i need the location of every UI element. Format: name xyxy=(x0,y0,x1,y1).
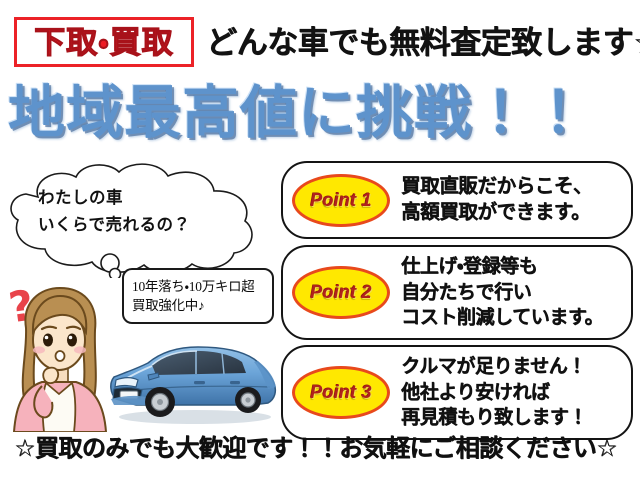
point-2-line-3: コスト削減しています。 xyxy=(401,305,603,331)
footer-message: ☆買取のみでも大歓迎です！！お気軽にご相談ください☆ xyxy=(14,435,628,464)
point-text-3: クルマが足りません！ 他社より安ければ 再見積もり致します！ xyxy=(401,354,587,431)
point-badge-2: Point 2 xyxy=(292,266,390,319)
point-text-2: 仕上げ・登録等も 自分たちで行い コスト削減しています。 xyxy=(401,254,603,331)
trade-in-purchase-badge: 下取・買取 xyxy=(14,17,194,67)
point-3-line-3: 再見積もり致します！ xyxy=(401,405,587,431)
point-box-3: Point 3 クルマが足りません！ 他社より安ければ 再見積もり致します！ xyxy=(281,345,633,440)
main-headline: 地域最高値に挑戦！！ xyxy=(8,84,632,146)
point-1-line-1: 買取直販だからこそ、 xyxy=(401,174,592,200)
thought-bubble-text: わたしの車 いくらで売れるの？ xyxy=(38,185,268,238)
point-badge-3: Point 3 xyxy=(292,366,390,419)
woman-illustration xyxy=(2,282,114,432)
thought-bubble-line-2: いくらで売れるの？ xyxy=(38,212,268,239)
thought-bubble: わたしの車 いくらで売れるの？ xyxy=(2,163,277,278)
point-2-line-2: 自分たちで行い xyxy=(401,280,603,306)
thought-bubble-line-1: わたしの車 xyxy=(38,185,268,212)
trade-in-purchase-badge-label: 下取・買取 xyxy=(34,27,174,58)
note-box-line-2: 買取強化中♪ xyxy=(132,296,264,315)
point-badge-1: Point 1 xyxy=(292,174,390,227)
header-subtitle: どんな車でも無料査定致します☆ xyxy=(206,24,640,63)
point-badge-3-label: Point 3 xyxy=(310,382,371,403)
point-1-line-2: 高額買取ができます。 xyxy=(401,200,592,226)
point-box-1: Point 1 買取直販だからこそ、 高額買取ができます。 xyxy=(281,161,633,239)
car-illustration xyxy=(100,333,285,433)
point-text-1: 買取直販だからこそ、 高額買取ができます。 xyxy=(401,174,592,226)
point-badge-2-label: Point 2 xyxy=(310,282,371,303)
point-box-2: Point 2 仕上げ・登録等も 自分たちで行い コスト削減しています。 xyxy=(281,245,633,340)
point-3-line-2: 他社より安ければ xyxy=(401,380,587,406)
point-badge-1-label: Point 1 xyxy=(310,190,371,211)
note-box: 10年落ち・10万キロ超 買取強化中♪ xyxy=(122,268,274,324)
advertisement-banner: 下取・買取 どんな車でも無料査定致します☆ 地域最高値に挑戦！！ わたしの車 い… xyxy=(0,0,640,480)
note-box-line-1: 10年落ち・10万キロ超 xyxy=(132,277,264,296)
point-2-line-1: 仕上げ・登録等も xyxy=(401,254,603,280)
point-3-line-1: クルマが足りません！ xyxy=(401,354,587,380)
